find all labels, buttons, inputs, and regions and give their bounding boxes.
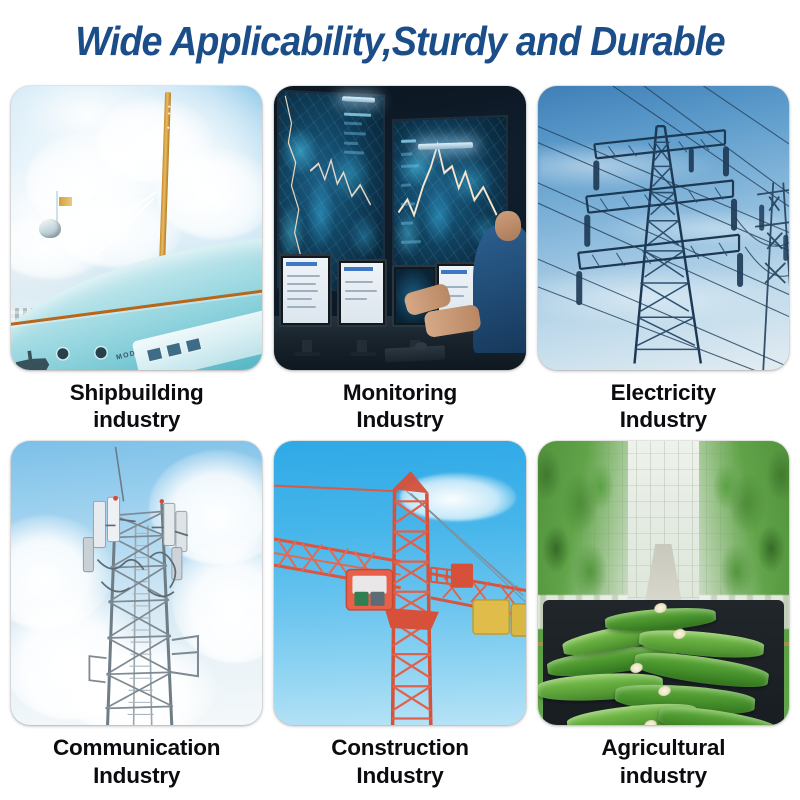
rigging-line [167, 126, 169, 128]
monitor-text-line [345, 298, 367, 300]
caption-line-2: industry [11, 406, 262, 433]
monitor-screen [283, 258, 328, 324]
deck-window [184, 338, 202, 354]
communication-image [11, 441, 262, 725]
monitor-text-line [287, 298, 312, 300]
application-card-shipbuilding[interactable]: MODA Shipbuilding industry [11, 86, 262, 433]
monitor-text-line [287, 306, 317, 308]
caption-line-1: Agricultural [601, 735, 725, 760]
greenhouse-backdrop [538, 441, 789, 725]
cell-tower-graphic [11, 441, 262, 725]
transmission-pylon-graphic [538, 86, 789, 370]
deck-window-row [145, 338, 202, 363]
application-card-communication[interactable]: Communication Industry [11, 441, 262, 788]
monitor-title-bar [441, 270, 467, 274]
construction-image [274, 441, 525, 725]
construction-caption: Construction Industry [274, 734, 525, 788]
monitor-text-line [345, 290, 377, 292]
caption-line-1: Shipbuilding [70, 380, 204, 405]
caption-line-2: Industry [274, 762, 525, 789]
application-card-monitoring[interactable]: Monitoring Industry [274, 86, 525, 433]
monitor-text-line [287, 275, 320, 277]
agricultural-caption: Agricultural industry [538, 734, 789, 788]
application-card-electricity[interactable]: Electricity Industry [538, 86, 789, 433]
caption-line-2: Industry [538, 406, 789, 433]
communication-caption: Communication Industry [11, 734, 262, 788]
rigging-line [168, 111, 171, 113]
operator-head [495, 211, 521, 241]
shipbuilding-image: MODA [11, 86, 262, 370]
operator-person [473, 225, 526, 353]
monitor-base [294, 352, 320, 356]
monitor-base [350, 352, 376, 356]
anchor [11, 349, 50, 370]
flag [59, 197, 72, 206]
search-light [39, 219, 61, 238]
caption-line-1: Monitoring [343, 380, 457, 405]
caption-line-2: industry [538, 762, 789, 789]
monitor-text-line [287, 283, 316, 285]
rigging-line [168, 105, 171, 108]
application-card-agricultural[interactable]: Agricultural industry [538, 441, 789, 788]
application-card-construction[interactable]: Construction Industry [274, 441, 525, 788]
caption-line-2: Industry [274, 406, 525, 433]
screen-ui-bar [343, 141, 358, 145]
deck-window [165, 342, 183, 358]
desktop-monitor [279, 254, 332, 328]
caption-line-2: Industry [11, 762, 262, 789]
tower-crane-graphic [274, 441, 525, 725]
porthole [56, 348, 68, 360]
electricity-caption: Electricity Industry [538, 379, 789, 433]
agricultural-image [538, 441, 789, 725]
ship-deckhouse [131, 308, 262, 370]
monitor-title-bar [286, 262, 317, 266]
desktop-monitor [337, 259, 387, 327]
screen-ui-bar [343, 131, 366, 135]
monitor-text-line [287, 290, 318, 292]
application-grid: MODA Shipbuilding industry [11, 86, 789, 789]
monitor-text-line [345, 281, 374, 283]
caption-line-1: Electricity [611, 380, 716, 405]
harvest-crate [543, 600, 784, 725]
caption-line-1: Construction [331, 735, 469, 760]
porthole [95, 347, 107, 359]
monitor-screen [341, 263, 383, 323]
promo-banner: Wide Applicability,Sturdy and Durable [0, 0, 800, 800]
monitoring-caption: Monitoring Industry [274, 379, 525, 433]
shipbuilding-caption: Shipbuilding industry [11, 379, 262, 433]
caption-line-1: Communication [53, 735, 220, 760]
monitor-title-bar [344, 267, 374, 271]
electricity-image [538, 86, 789, 370]
deck-window [145, 347, 163, 363]
page-title: Wide Applicability,Sturdy and Durable [32, 18, 768, 65]
monitoring-image [274, 86, 525, 370]
